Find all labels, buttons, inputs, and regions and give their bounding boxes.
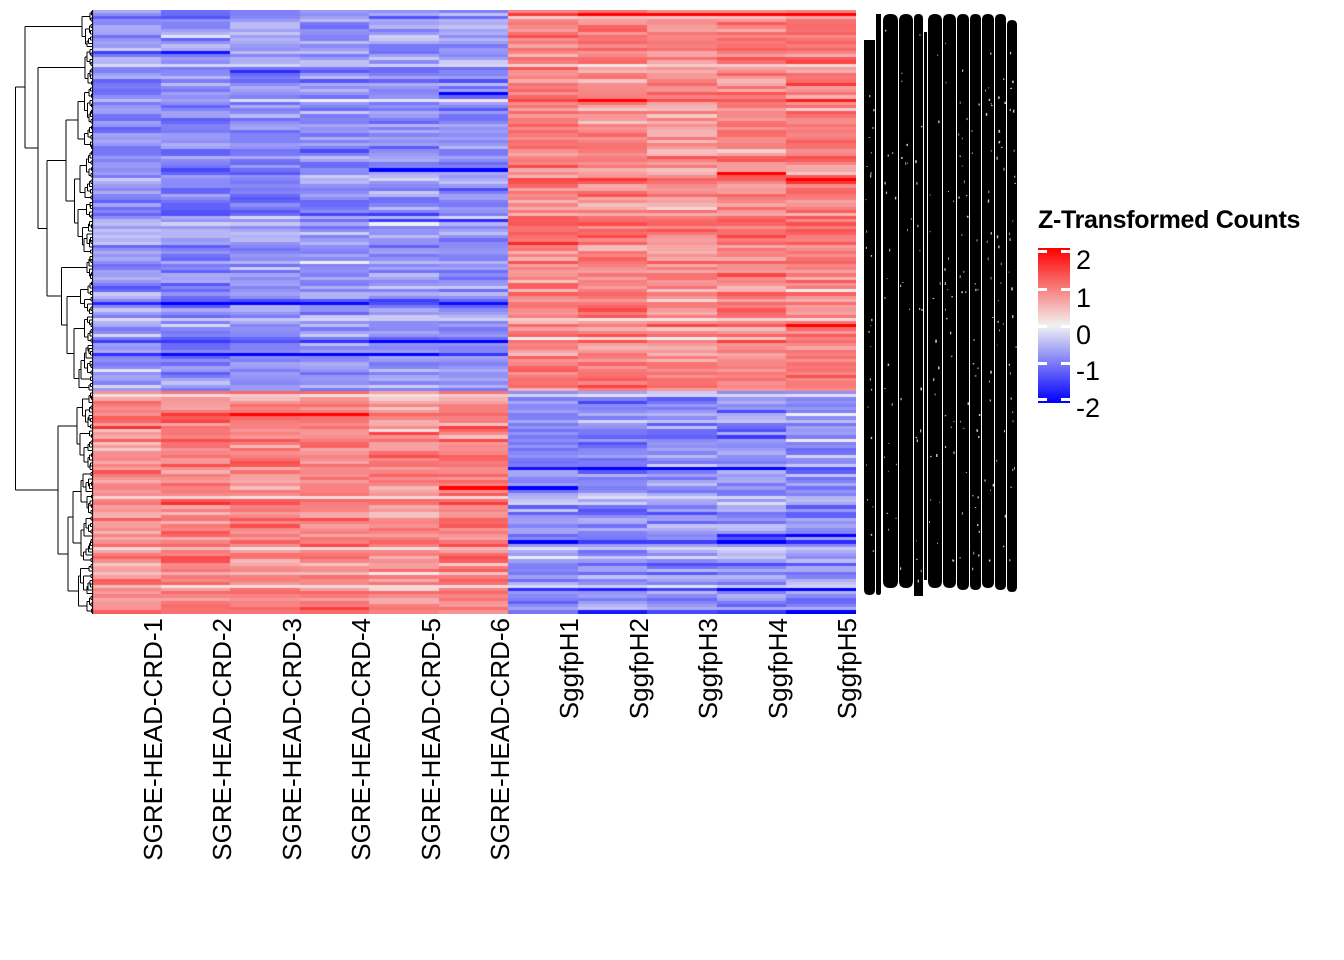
legend-tick-mark-2	[1038, 250, 1047, 253]
legend-tick-mark-2r	[1061, 250, 1070, 253]
legend-colorbar-wrap	[1038, 248, 1070, 403]
column-label-3: SGRE-HEAD-CRD-4	[348, 618, 374, 918]
column-label-8: SggfpH3	[695, 618, 721, 918]
column-label-6: SggfpH1	[556, 618, 582, 918]
legend-tick-mark-m2r	[1061, 398, 1070, 401]
row-labels-svg	[862, 10, 1019, 616]
legend-tick-mark-1r	[1061, 288, 1070, 291]
column-label-4: SGRE-HEAD-CRD-5	[418, 618, 444, 918]
column-label-5: SGRE-HEAD-CRD-6	[487, 618, 513, 918]
legend-tick-label-m1: -1	[1076, 358, 1100, 385]
column-label-0: SGRE-HEAD-CRD-1	[140, 618, 166, 918]
legend-tick-mark-0r	[1061, 325, 1070, 328]
legend-tick-mark-m2	[1038, 398, 1047, 401]
column-label-10: SggfpH5	[834, 618, 860, 918]
legend: Z-Transformed Counts 2 1 0 -1 -2	[1036, 206, 1336, 416]
column-label-9: SggfpH4	[765, 618, 791, 918]
legend-tick-mark-m1r	[1061, 362, 1070, 365]
legend-tick-mark-0	[1038, 325, 1047, 328]
heatmap-panel	[92, 10, 856, 614]
legend-tick-label-2: 2	[1076, 247, 1091, 274]
legend-title: Z-Transformed Counts	[1038, 206, 1300, 235]
legend-tick-label-m2: -2	[1076, 395, 1100, 422]
legend-tick-mark-m1	[1038, 362, 1047, 365]
heatmap-grid[interactable]	[92, 10, 856, 614]
legend-tick-label-1: 1	[1076, 285, 1091, 312]
row-dendrogram-svg	[14, 10, 92, 614]
column-label-1: SGRE-HEAD-CRD-2	[209, 618, 235, 918]
row-dendrogram	[14, 10, 92, 614]
column-label-2: SGRE-HEAD-CRD-3	[279, 618, 305, 918]
legend-tick-label-0: 0	[1076, 322, 1091, 349]
legend-tick-mark-1	[1038, 288, 1047, 291]
column-label-7: SggfpH2	[626, 618, 652, 918]
column-axis-labels: SGRE-HEAD-CRD-1 SGRE-HEAD-CRD-2 SGRE-HEA…	[92, 618, 856, 938]
row-labels-block	[862, 10, 1019, 616]
